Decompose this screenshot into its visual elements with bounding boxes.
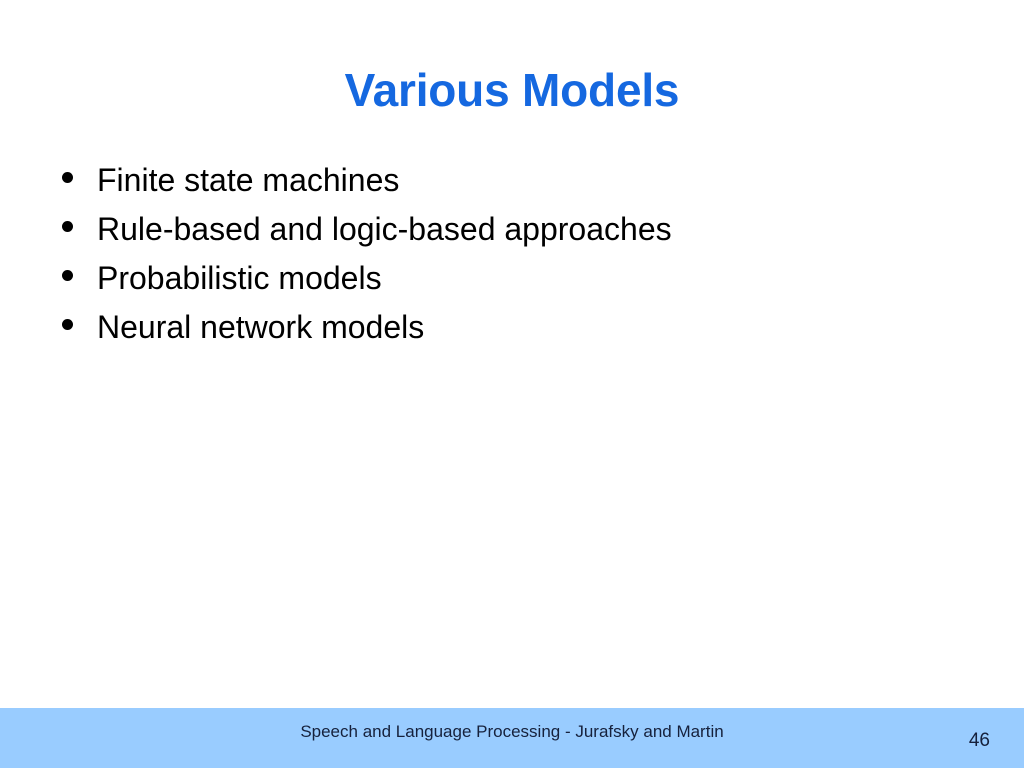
slide-number: 46 [969, 730, 990, 752]
bullet-dot-icon [62, 221, 73, 232]
list-item-label: Finite state machines [97, 158, 399, 202]
bullet-dot-icon [62, 172, 73, 183]
footer-attribution: Speech and Language Processing - Jurafsk… [0, 722, 1024, 742]
list-item-label: Probabilistic models [97, 256, 382, 300]
page-title: Various Models [0, 66, 1024, 114]
list-item: Rule-based and logic-based approaches [52, 207, 972, 256]
slide-footer: Speech and Language Processing - Jurafsk… [0, 708, 1024, 768]
list-item: Finite state machines [52, 158, 972, 207]
bullet-dot-icon [62, 270, 73, 281]
list-item-label: Neural network models [97, 305, 424, 349]
list-item: Probabilistic models [52, 256, 972, 305]
presentation-slide: Various Models Finite state machines Rul… [0, 0, 1024, 768]
bullet-list: Finite state machines Rule-based and log… [52, 158, 972, 354]
list-item-label: Rule-based and logic-based approaches [97, 207, 672, 251]
list-item: Neural network models [52, 305, 972, 354]
bullet-dot-icon [62, 319, 73, 330]
